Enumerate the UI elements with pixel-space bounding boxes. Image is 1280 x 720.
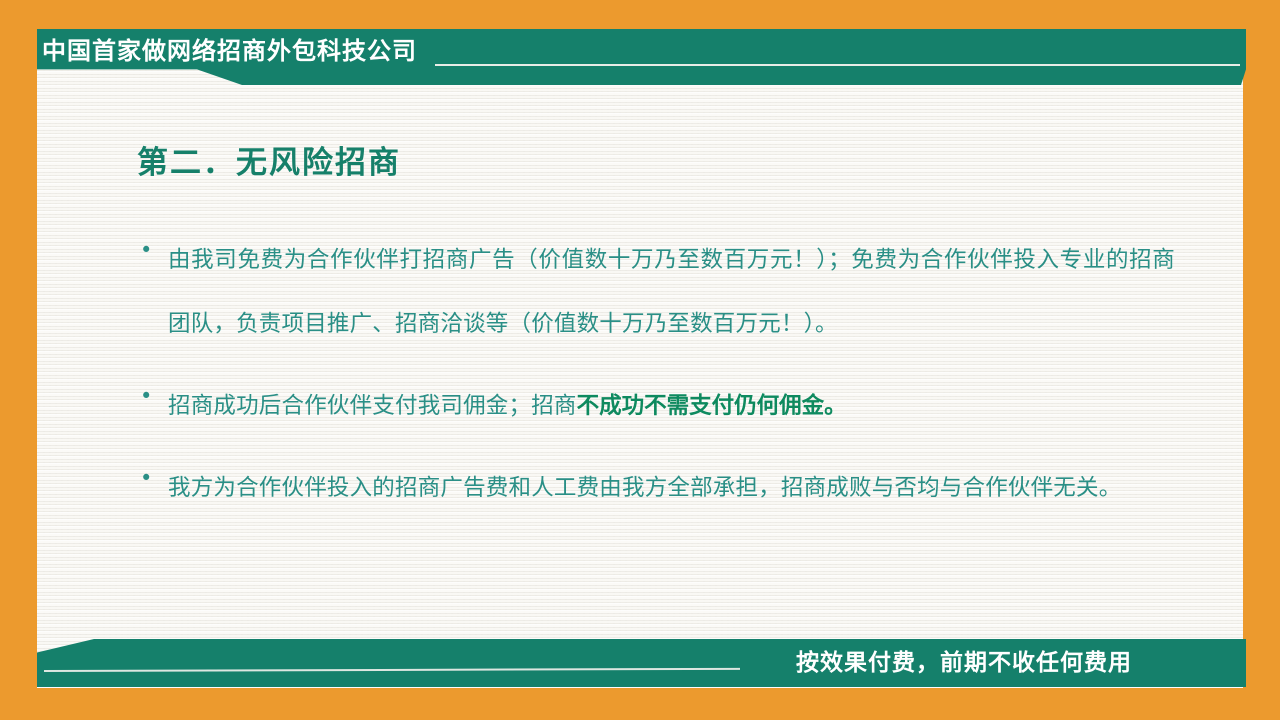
- body-text: 招商成功后合作伙伴支付我司佣金；招商: [168, 393, 577, 419]
- list-item: •由我司免费为合作伙伴打招商广告（价值数十万乃至数百万元！）；免费为合作伙伴投入…: [140, 228, 1175, 356]
- bullet-dot-icon: •: [140, 228, 168, 272]
- list-item-text: 招商成功后合作伙伴支付我司佣金；招商不成功不需支付仍何佣金。: [168, 374, 1175, 438]
- list-item-text: 由我司免费为合作伙伴打招商广告（价值数十万乃至数百万元！）；免费为合作伙伴投入专…: [168, 228, 1175, 356]
- bullet-dot-icon: •: [140, 456, 168, 500]
- header-company-title: 中国首家做网络招商外包科技公司: [37, 30, 557, 72]
- body-text: 我方为合作伙伴投入的招商广告费和人工费由我方全部承担，招商成败与否均与合作伙伴无…: [168, 475, 1121, 501]
- bullet-dot-icon: •: [140, 374, 168, 418]
- footer-slogan: 按效果付费，前期不收任何费用: [700, 643, 1228, 683]
- list-item: •招商成功后合作伙伴支付我司佣金；招商不成功不需支付仍何佣金。: [140, 374, 1175, 438]
- body-text: 由我司免费为合作伙伴打招商广告（价值数十万乃至数百万元！）；免费为合作伙伴投入专…: [168, 247, 1175, 337]
- page-title: 第二．无风险招商: [137, 137, 401, 182]
- slide-canvas: 中国首家做网络招商外包科技公司 第二．无风险招商 •由我司免费为合作伙伴打招商广…: [0, 0, 1280, 720]
- bullet-list: •由我司免费为合作伙伴打招商广告（价值数十万乃至数百万元！）；免费为合作伙伴投入…: [140, 228, 1175, 538]
- emphasized-text: 不成功不需支付仍何佣金。: [577, 393, 847, 419]
- list-item-text: 我方为合作伙伴投入的招商广告费和人工费由我方全部承担，招商成败与否均与合作伙伴无…: [168, 456, 1175, 520]
- list-item: •我方为合作伙伴投入的招商广告费和人工费由我方全部承担，招商成败与否均与合作伙伴…: [140, 456, 1175, 520]
